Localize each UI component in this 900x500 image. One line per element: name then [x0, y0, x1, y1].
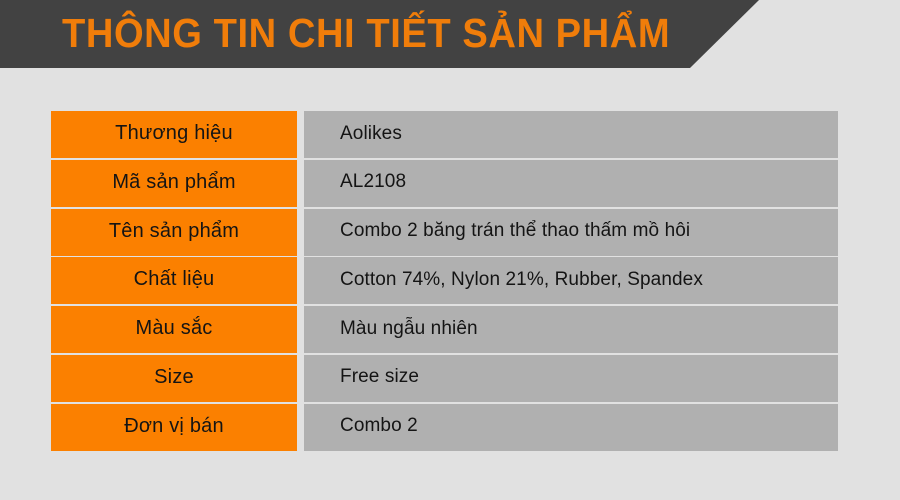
table-row: Size Free size: [51, 355, 838, 402]
spec-value-color: Màu ngẫu nhiên: [304, 306, 838, 353]
spec-label-selling-unit: Đơn vị bán: [51, 404, 297, 451]
spec-value-selling-unit: Combo 2: [304, 404, 838, 451]
spec-value-size: Free size: [304, 355, 838, 402]
spec-label-size: Size: [51, 355, 297, 402]
table-row: Thương hiệu Aolikes: [51, 111, 838, 158]
table-row: Mã sản phẩm AL2108: [51, 160, 838, 207]
spec-label-material: Chất liệu: [51, 257, 297, 304]
spec-label-color: Màu sắc: [51, 306, 297, 353]
spec-value-material: Cotton 74%, Nylon 21%, Rubber, Spandex: [304, 257, 838, 304]
header-banner: THÔNG TIN CHI TIẾT SẢN PHẨM: [0, 0, 900, 68]
table-row: Đơn vị bán Combo 2: [51, 404, 838, 451]
spec-value-product-name: Combo 2 băng trán thể thao thấm mồ hôi: [304, 209, 838, 256]
product-detail-page: THÔNG TIN CHI TIẾT SẢN PHẨM Thương hiệu …: [0, 0, 900, 500]
table-row: Màu sắc Màu ngẫu nhiên: [51, 306, 838, 353]
table-row: Tên sản phẩm Combo 2 băng trán thể thao …: [51, 209, 838, 256]
spec-value-product-code: AL2108: [304, 160, 838, 207]
product-spec-table: Thương hiệu Aolikes Mã sản phẩm AL2108 T…: [51, 111, 838, 451]
spec-value-brand: Aolikes: [304, 111, 838, 158]
page-title: THÔNG TIN CHI TIẾT SẢN PHẨM: [62, 0, 670, 68]
spec-label-brand: Thương hiệu: [51, 111, 297, 158]
table-row: Chất liệu Cotton 74%, Nylon 21%, Rubber,…: [51, 257, 838, 304]
spec-label-product-code: Mã sản phẩm: [51, 160, 297, 207]
spec-label-product-name: Tên sản phẩm: [51, 209, 297, 256]
